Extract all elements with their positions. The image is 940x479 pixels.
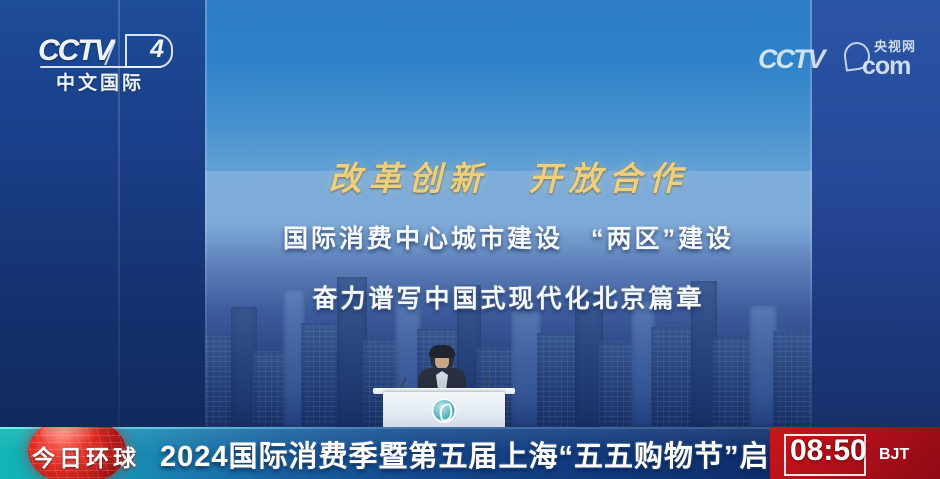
podium: [383, 392, 505, 428]
watermark-cn-label: 央视网: [874, 36, 916, 55]
video-frame: 改革创新 开放合作 国际消费中心城市建设 “两区”建设 奋力谱写中国式现代化北京…: [0, 0, 940, 479]
led-panel-seam-left: [205, 0, 207, 427]
clock-time: 08:50: [790, 434, 867, 468]
screen-subtitle-line-2: 奋力谱写中国式现代化北京篇章: [205, 279, 812, 315]
watermark-suffix: com: [862, 52, 910, 81]
speaker-hair: [429, 345, 455, 358]
led-backdrop-screen: 改革创新 开放合作 国际消费中心城市建设 “两区”建设 奋力谱写中国式现代化北京…: [205, 0, 812, 427]
screen-gold-headline: 改革创新 开放合作: [205, 152, 812, 200]
channel-subtitle: 中文国际: [56, 68, 144, 95]
ticker-headline: 2024国际消费季暨第五届上海“五五购物节”启动: [160, 433, 800, 475]
broadcast-screenshot: 改革创新 开放合作 国际消费中心城市建设 “两区”建设 奋力谱写中国式现代化北京…: [0, 0, 940, 479]
news-ticker-bar: 今日环球 2024国际消费季暨第五届上海“五五购物节”启动 08:50 BJT: [0, 427, 940, 479]
channel-wordmark: CCTV: [38, 34, 112, 68]
circular-emblem-icon: [434, 400, 455, 421]
channel-number: 4: [150, 35, 164, 64]
screen-subtitle-line-1: 国际消费中心城市建设 “两区”建设: [205, 219, 812, 255]
program-name: 今日环球: [32, 439, 140, 473]
channel-logo-cctv4: CCTV 4 中文国际: [38, 34, 173, 90]
watermark-wordmark: CCTV: [758, 44, 824, 75]
cctv-com-watermark: CCTV com 央视网: [758, 36, 916, 82]
channel-number-badge: 4: [125, 34, 173, 68]
clock-panel: 08:50 BJT: [770, 427, 940, 479]
clock-timezone: BJT: [879, 446, 909, 464]
